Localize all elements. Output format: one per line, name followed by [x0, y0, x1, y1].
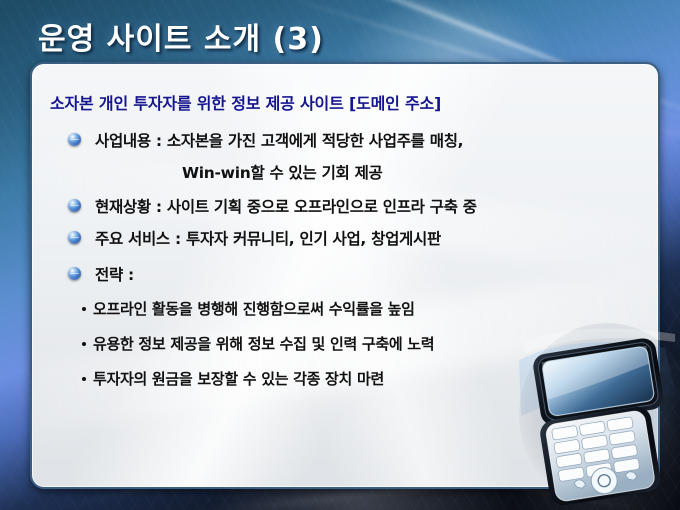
- dot-bullet-icon: [82, 377, 86, 381]
- blue-sphere-bullet-icon: [68, 133, 81, 146]
- strategy-sub-list: 오프라인 활동을 병행해 진행함으로써 수익률을 높임 유용한 정보 제공을 위…: [42, 294, 648, 394]
- bullet-text: 사업내용 : 소자본을 가진 고객에게 적당한 사업주를 매칭,: [95, 126, 648, 156]
- bullet-text: 주요 서비스 : 투자자 커뮤니티, 인기 사업, 창업게시판: [95, 224, 648, 254]
- content-panel: 소자본 개인 투자자를 위한 정보 제공 사이트 [도메인 주소] 사업내용 :…: [30, 62, 660, 489]
- bullet-continuation-text: Win-win할 수 있는 기회 제공: [182, 158, 648, 188]
- strategy-list-item: 투자자의 원금을 보장할 수 있는 각종 장치 마련: [42, 364, 648, 394]
- strategy-item-text: 투자자의 원금을 보장할 수 있는 각종 장치 마련: [93, 364, 648, 394]
- blue-sphere-bullet-icon: [68, 199, 81, 212]
- bullet-text: 현재상황 : 사이트 기획 중으로 오프라인으로 인프라 구축 중: [95, 192, 648, 222]
- strategy-list-item: 유용한 정보 제공을 위해 정보 수집 및 인력 구축에 노력: [42, 329, 648, 359]
- bullet-item: 전략 :: [42, 260, 648, 290]
- presentation-slide: 운영 사이트 소개 (3) 소자본 개인 투자자를 위한 정보 제공 사이트 […: [0, 0, 680, 510]
- dot-bullet-icon: [82, 307, 86, 311]
- strategy-item-text: 유용한 정보 제공을 위해 정보 수집 및 인력 구축에 노력: [93, 329, 648, 359]
- bullet-item: 현재상황 : 사이트 기획 중으로 오프라인으로 인프라 구축 중: [42, 192, 648, 222]
- strategy-item-text: 오프라인 활동을 병행해 진행함으로써 수익률을 높임: [93, 294, 648, 324]
- dot-bullet-icon: [82, 342, 86, 346]
- bullet-item: 사업내용 : 소자본을 가진 고객에게 적당한 사업주를 매칭,: [42, 126, 648, 156]
- bullet-text: 전략 :: [95, 260, 648, 290]
- bullet-item: 주요 서비스 : 투자자 커뮤니티, 인기 사업, 창업게시판: [42, 224, 648, 254]
- slide-title: 운영 사이트 소개 (3): [38, 14, 324, 58]
- blue-sphere-bullet-icon: [68, 231, 81, 244]
- strategy-list-item: 오프라인 활동을 병행해 진행함으로써 수익률을 높임: [42, 294, 648, 324]
- bullet-list: 사업내용 : 소자본을 가진 고객에게 적당한 사업주를 매칭, Win-win…: [42, 126, 648, 399]
- panel-subtitle: 소자본 개인 투자자를 위한 정보 제공 사이트 [도메인 주소]: [50, 90, 441, 114]
- blue-sphere-bullet-icon: [68, 267, 81, 280]
